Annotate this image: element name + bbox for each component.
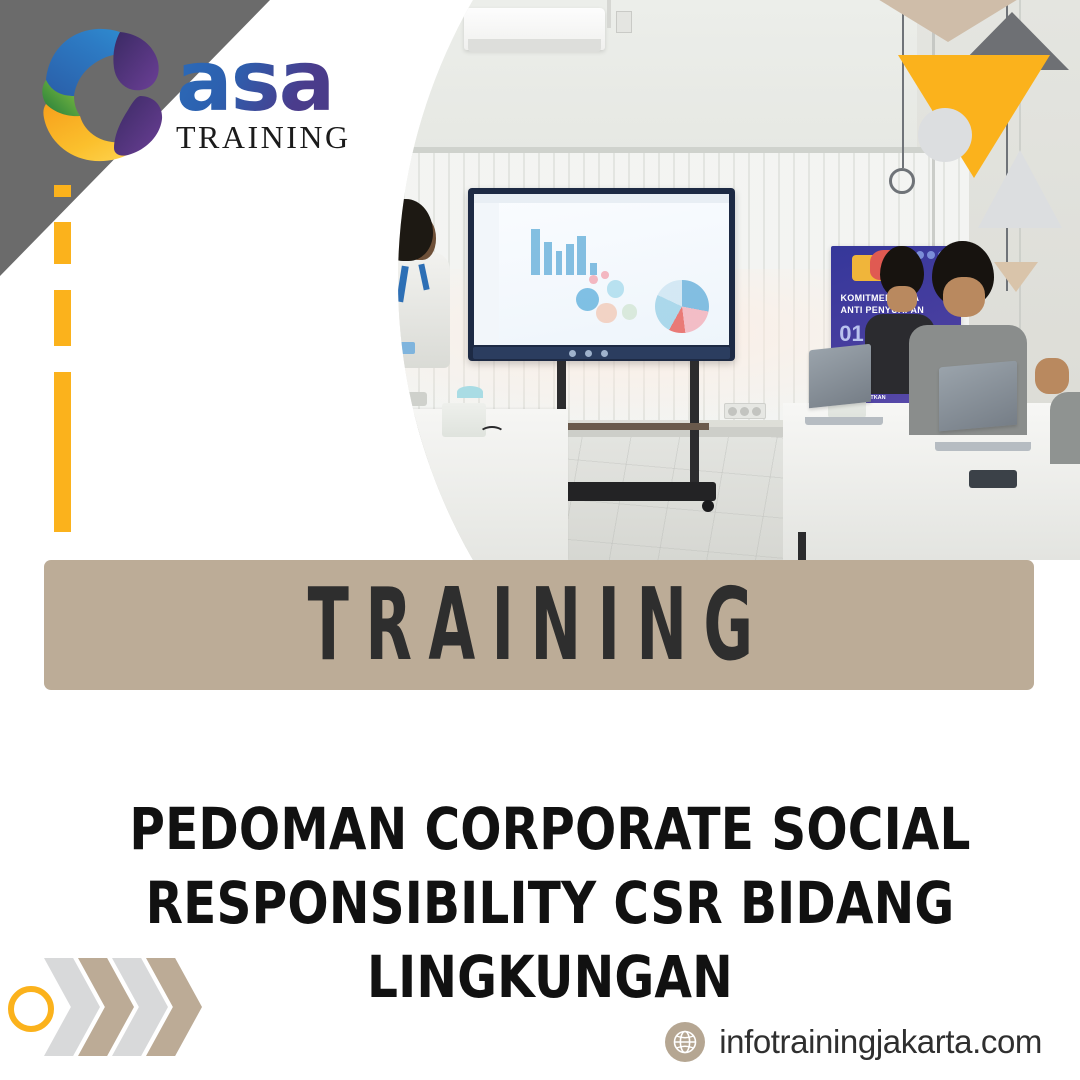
phone-on-table xyxy=(969,470,1017,488)
yellow-bar-2 xyxy=(54,222,71,264)
training-banner: TRAINING xyxy=(44,560,1034,690)
logo-wordmark: asa TRAINING xyxy=(176,46,351,156)
yellow-bar-3 xyxy=(54,290,71,346)
screen-bar-chart xyxy=(530,221,607,276)
display-screen xyxy=(474,194,729,346)
light-gray-triangle-up-icon xyxy=(978,150,1062,228)
yellow-bar-4 xyxy=(54,372,71,532)
display-stand-shelf xyxy=(546,423,709,430)
title-line-2: RESPONSIBILITY CSR BIDANG xyxy=(94,866,1005,940)
training-banner-label: TRAINING xyxy=(308,567,770,683)
yellow-circle-outline-icon xyxy=(8,986,54,1032)
screen-sidebar xyxy=(474,203,500,346)
laptop-1-base xyxy=(805,417,883,425)
laptop-2-base xyxy=(935,442,1031,451)
logo-training-text: TRAINING xyxy=(176,119,351,156)
website-url-text: infotrainingjakarta.com xyxy=(719,1023,1042,1061)
page-title: PEDOMAN CORPORATE SOCIAL RESPONSIBILITY … xyxy=(94,792,1005,1015)
table-leg xyxy=(412,538,419,560)
title-line-3: LINGKUNGAN xyxy=(94,940,1005,1014)
wall-power-socket xyxy=(724,403,766,419)
screen-toolbar xyxy=(474,194,729,203)
light-gray-circle-icon xyxy=(918,108,972,162)
chevron-group xyxy=(28,958,218,1058)
air-conditioner-pipe xyxy=(607,0,611,28)
laptop-left-edge xyxy=(397,392,427,406)
tissue-sheet xyxy=(457,386,483,398)
screen-pie-chart xyxy=(655,280,709,334)
air-conditioner-vent xyxy=(468,39,602,51)
logo-asa-text: asa xyxy=(176,46,351,117)
participant-3-hand xyxy=(1035,358,1069,394)
casa-circular-swoosh-icon xyxy=(28,18,178,168)
brand-logo[interactable]: asa TRAINING xyxy=(28,18,358,168)
small-tan-triangle-down-icon xyxy=(994,262,1038,292)
presenter-arm xyxy=(369,314,395,392)
banner-step-1-number: 01 xyxy=(839,321,863,347)
participant-3-body xyxy=(1050,392,1080,464)
stand-caster xyxy=(702,500,714,512)
table-leg xyxy=(798,532,806,560)
presenter-watch xyxy=(372,400,388,411)
participant-1-face xyxy=(887,286,917,312)
website-link[interactable]: infotrainingjakarta.com xyxy=(665,1022,1042,1062)
blinds-rail xyxy=(360,147,968,153)
yellow-bar-1 xyxy=(54,185,71,197)
poster-canvas: KOMITMEN SAYA ANTI PENYUAPAN 01 MENGHIND… xyxy=(0,0,1080,1080)
wall-junction-box xyxy=(616,11,632,33)
presenter-head xyxy=(379,199,433,261)
globe-icon xyxy=(665,1022,705,1062)
participant-2-face xyxy=(943,277,985,317)
presentation-display xyxy=(468,188,735,362)
presenter-id-badge xyxy=(399,342,415,354)
laptop-1 xyxy=(809,344,871,409)
cable-loop xyxy=(479,426,505,442)
laptop-2 xyxy=(939,361,1017,432)
title-line-1: PEDOMAN CORPORATE SOCIAL xyxy=(94,792,1005,866)
